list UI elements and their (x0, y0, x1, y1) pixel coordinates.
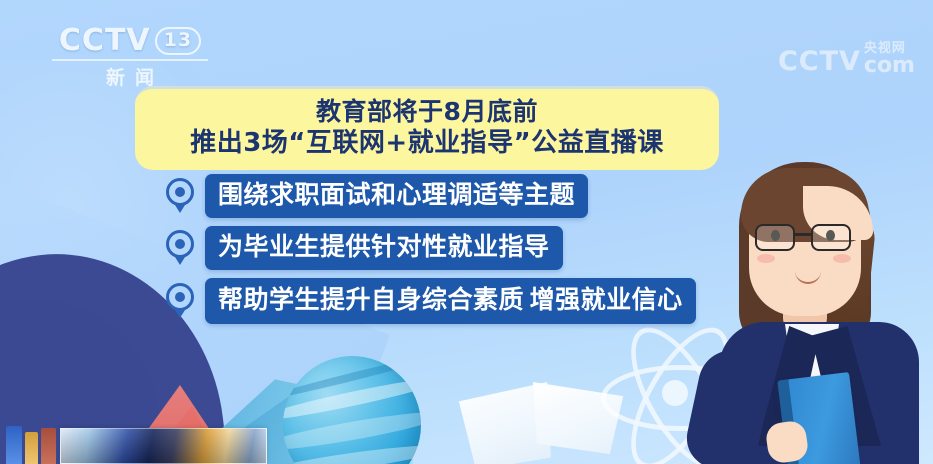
cctv-channel-number: 13 (155, 27, 201, 55)
bullet-bar: 围绕求职面试和心理调适等主题 (205, 174, 588, 218)
bullet-text-secondary: 增强就业信心 (530, 285, 683, 314)
bullet-bar: 帮助学生提升自身综合素质 增强就业信心 (205, 278, 696, 324)
target-pin-icon (164, 176, 198, 216)
watermark-brand: CCTV (778, 48, 861, 76)
target-pin-icon (164, 281, 198, 321)
headline-line-2: 推出3场“互联网+就业指导”公益直播课 (149, 127, 705, 160)
cctv-logo-text: CCTV (59, 24, 151, 58)
bullet-text: 围绕求职面试和心理调适等主题 (218, 180, 575, 209)
broadcast-screen: CCTV 13 新闻 CCTV 央视网 com 教育部将于8月底前 推出3场“互… (0, 0, 933, 464)
presenter-illustration (683, 154, 933, 464)
target-pin-icon (164, 228, 198, 268)
cctv-com-watermark: CCTV 央视网 com (778, 36, 915, 76)
bullet-text: 帮助学生提升自身综合素质 (218, 285, 524, 314)
headline-banner: 教育部将于8月底前 推出3场“互联网+就业指导”公益直播课 (135, 86, 719, 170)
bullet-bar: 为毕业生提供针对性就业指导 (205, 226, 563, 270)
presenter-blush-left (757, 254, 775, 263)
list-item: 帮助学生提升自身综合素质 增强就业信心 (164, 278, 724, 324)
list-item: 为毕业生提供针对性就业指导 (164, 226, 724, 270)
presenter-blush-right (833, 254, 851, 263)
watermark-domain: com (864, 56, 915, 76)
footage-thumbnail-strip (60, 428, 267, 464)
cctv-logo-rule (52, 59, 208, 61)
glasses-icon (753, 224, 857, 252)
bullet-list: 围绕求职面试和心理调适等主题 为毕业生提供针对性就业指导 帮助学生提升自身综合素… (164, 174, 724, 332)
list-item: 围绕求职面试和心理调适等主题 (164, 174, 724, 218)
headline-line-1: 教育部将于8月底前 (149, 96, 705, 127)
cctv-channel-logo: CCTV 13 新闻 (46, 24, 214, 90)
bullet-text: 为毕业生提供针对性就业指导 (218, 232, 550, 261)
